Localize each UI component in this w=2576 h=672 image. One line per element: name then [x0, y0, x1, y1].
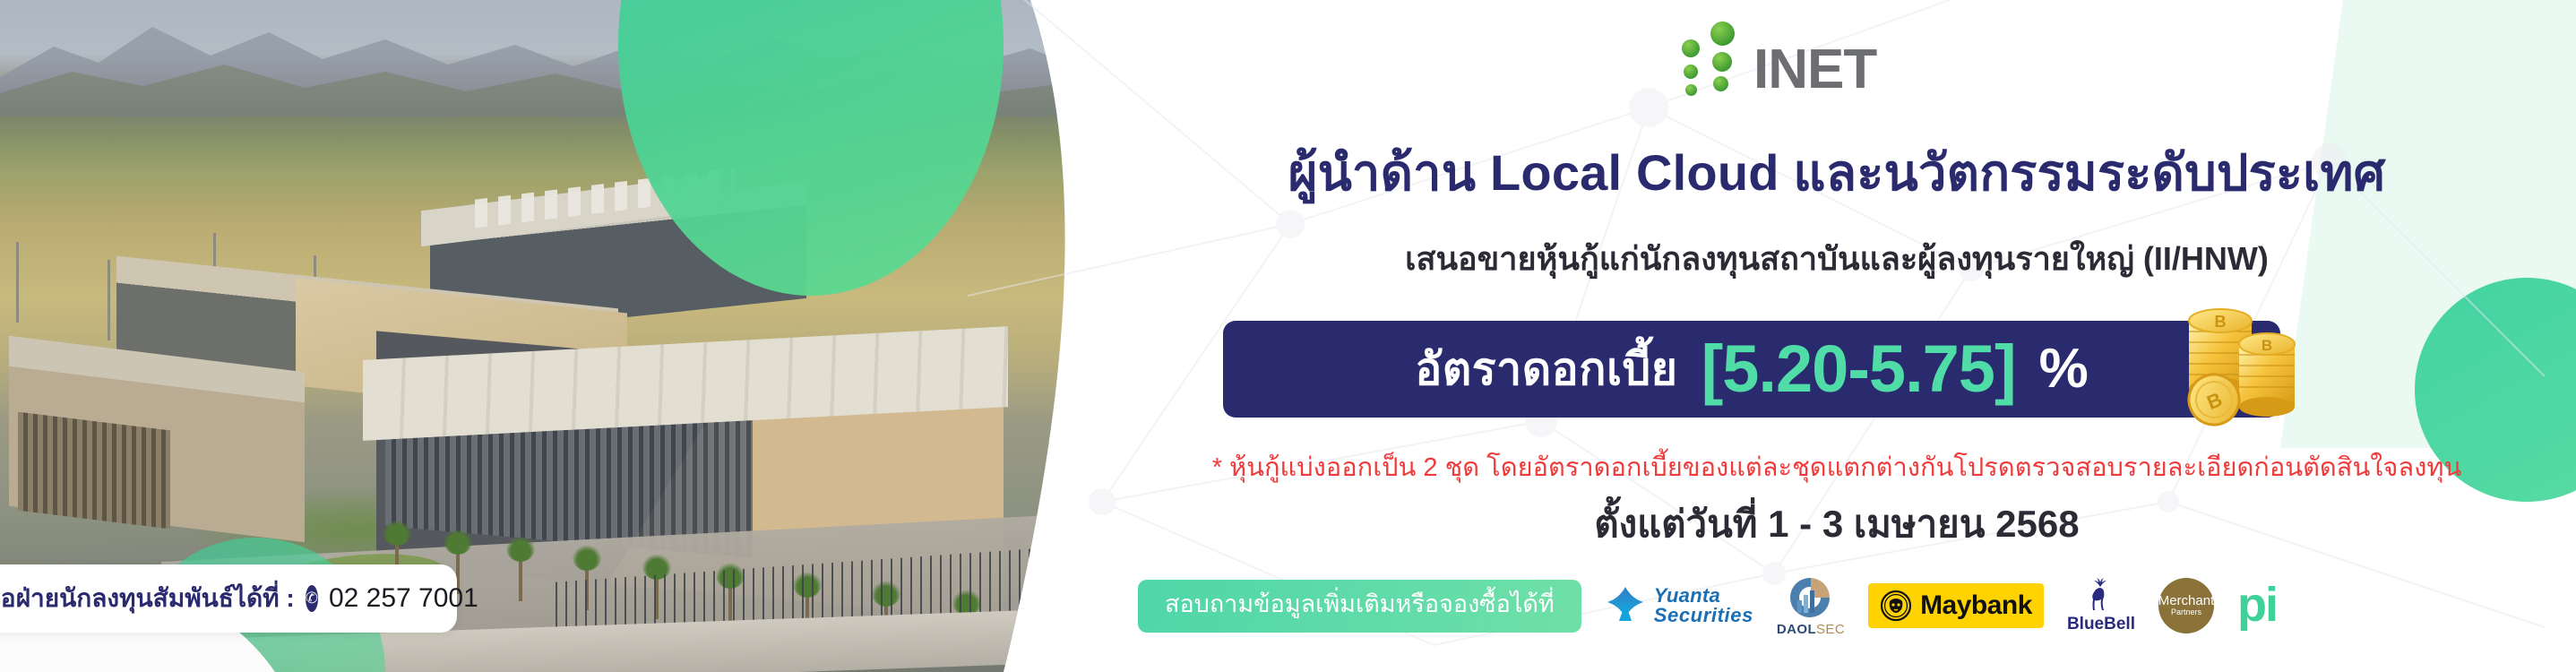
- partner-logo-pi[interactable]: pi: [2237, 578, 2277, 633]
- svg-text:B: B: [2262, 337, 2272, 354]
- rate-unit: %: [2039, 341, 2089, 397]
- partner-logo-list: Yuanta Securities: [1605, 578, 2277, 633]
- subheadline: เสนอขายหุ้นกู้แก่นักลงทุนสถาบันและผู้ลงท…: [1165, 233, 2509, 284]
- daol-pie-icon: [1788, 575, 1833, 620]
- inquiry-button[interactable]: สอบถามข้อมูลเพิ่มเติมหรือจองซื้อได้ที่: [1138, 580, 1581, 633]
- contact-phone-number[interactable]: 02 257 7001: [329, 583, 478, 614]
- interest-rate-badge: อัตราดอกเบี้ย [5.20-5.75] %: [1223, 321, 2280, 418]
- headline: ผู้นำด้าน Local Cloud และนวัตกรรมระดับปร…: [1165, 133, 2509, 212]
- gold-coins-icon: B B: [2175, 290, 2309, 434]
- investor-relations-contact: ติดต่อฝ่ายนักลงทุนสัมพันธ์ได้ที่ : ✆ 02 …: [0, 564, 457, 633]
- contact-label: ติดต่อฝ่ายนักลงทุนสัมพันธ์ได้ที่ :: [0, 579, 295, 618]
- phone-icon: ✆: [306, 585, 318, 612]
- daol-suffix: SEC: [1816, 622, 1845, 637]
- maybank-name: Maybank: [1920, 590, 2032, 621]
- rate-label: อัตราดอกเบี้ย: [1415, 334, 1677, 405]
- yuanta-name-line1: Yuanta: [1654, 586, 1753, 606]
- merchant-name-line2: Partners: [2171, 608, 2201, 617]
- partner-logo-daol[interactable]: DAOLSEC: [1777, 578, 1845, 633]
- cta-partner-row: สอบถามข้อมูลเพิ่มเติมหรือจองซื้อได้ที่: [1138, 578, 2563, 633]
- svg-text:B: B: [2215, 313, 2227, 331]
- partner-logo-maybank[interactable]: Maybank: [1868, 578, 2044, 633]
- content-column: ผู้นำด้าน Local Cloud และนวัตกรรมระดับปร…: [1084, 0, 2576, 672]
- bluebell-name: BlueBell: [2067, 615, 2135, 634]
- maybank-tiger-icon: [1880, 590, 1912, 622]
- partner-logo-yuanta[interactable]: Yuanta Securities: [1605, 578, 1753, 633]
- merchant-name-line1: Merchant: [2158, 594, 2215, 608]
- daol-name: DAOL: [1777, 622, 1816, 637]
- yuanta-star-icon: [1605, 585, 1646, 626]
- pi-wordmark-icon: pi: [2237, 586, 2277, 625]
- office-louvers: [18, 412, 170, 530]
- partner-logo-bluebell[interactable]: BlueBell: [2067, 578, 2135, 633]
- partner-logo-merchant[interactable]: Merchant Partners: [2158, 578, 2214, 633]
- yuanta-name-line2: Securities: [1654, 606, 1753, 625]
- rate-value: [5.20-5.75]: [1702, 336, 2016, 402]
- footnote-disclaimer: * หุ้นกู้แบ่งออกเป็น 2 ชุด โดยอัตราดอกเบ…: [1093, 446, 2576, 487]
- bluebell-deer-icon: [2081, 578, 2121, 614]
- promo-banner: INET ผู้นำด้าน Local Cloud และนวัตกรรมระ…: [0, 0, 2576, 672]
- offer-dateline: ตั้งแต่วันที่ 1 - 3 เมษายน 2568: [1165, 495, 2509, 554]
- merchant-circle-icon: Merchant Partners: [2158, 578, 2214, 633]
